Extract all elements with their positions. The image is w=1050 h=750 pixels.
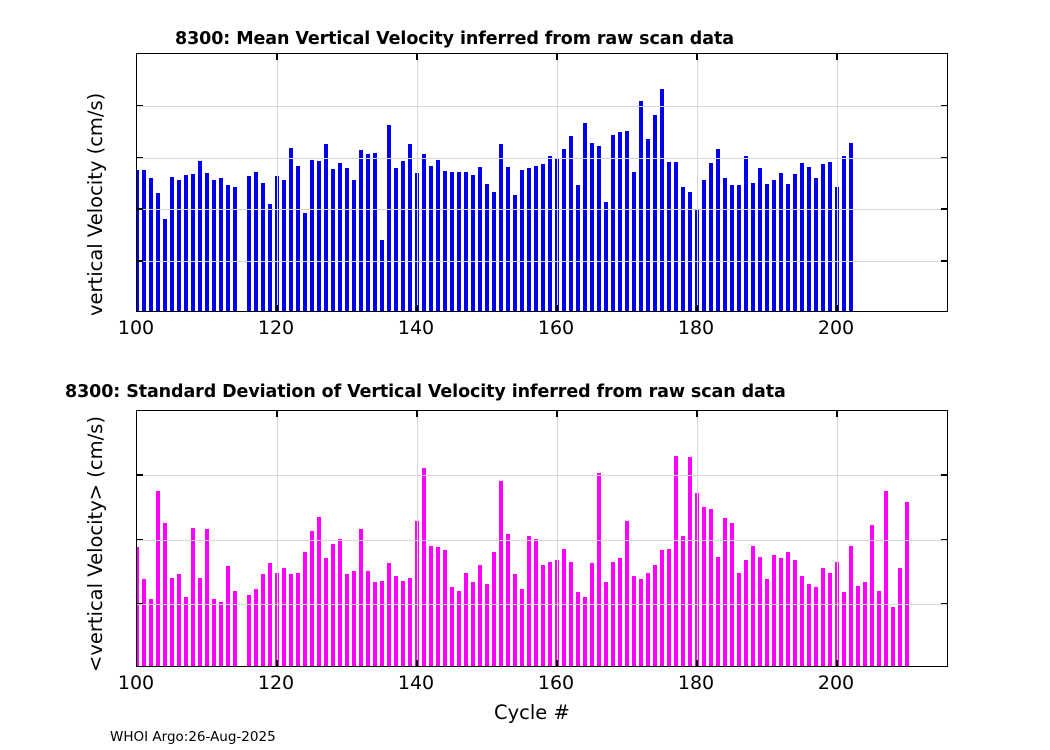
x-tick-label: 180 — [656, 672, 736, 694]
bar — [485, 184, 490, 311]
bar — [499, 481, 504, 666]
bar — [136, 170, 139, 311]
bar — [842, 156, 847, 311]
bar — [653, 115, 658, 311]
bar — [597, 146, 602, 311]
bar — [520, 589, 525, 666]
bar — [198, 578, 203, 666]
bar — [884, 491, 889, 666]
x-tick-mark — [276, 410, 278, 417]
bar — [492, 552, 497, 666]
bar — [744, 156, 749, 311]
bar — [436, 547, 441, 666]
bar — [604, 582, 609, 666]
bar — [247, 176, 252, 311]
bottom-panel-y-axis-label: <vertical Velocity> (cm/s) — [84, 416, 107, 672]
bar — [688, 457, 693, 666]
bar — [604, 202, 609, 311]
bar — [898, 568, 903, 666]
bar — [254, 589, 259, 666]
gridline-vertical — [277, 411, 278, 666]
bar — [212, 180, 217, 311]
y-tick-mark — [941, 603, 948, 605]
bar — [905, 502, 910, 666]
bar — [506, 167, 511, 311]
bar — [632, 576, 637, 666]
bar — [324, 144, 329, 311]
bar — [702, 507, 707, 666]
bar — [394, 576, 399, 666]
bar — [800, 163, 805, 311]
bar — [632, 172, 637, 311]
bar — [471, 582, 476, 666]
gridline-horizontal — [137, 475, 947, 476]
bar — [737, 573, 742, 666]
bar — [576, 185, 581, 311]
x-tick-label: 160 — [516, 317, 596, 339]
top-panel-y-axis-label: vertical Velocity (cm/s) — [84, 93, 107, 316]
gridline-vertical — [697, 54, 698, 311]
bar — [219, 602, 224, 666]
bar — [793, 174, 798, 311]
bar — [814, 587, 819, 666]
bar — [373, 153, 378, 312]
bar — [737, 185, 742, 311]
bar — [793, 560, 798, 666]
bar — [254, 172, 259, 311]
bar — [541, 565, 546, 666]
bar — [205, 529, 210, 666]
bar — [303, 552, 308, 666]
bar — [394, 168, 399, 311]
bar — [534, 166, 539, 311]
bar — [821, 568, 826, 666]
bar — [800, 576, 805, 666]
x-tick-mark — [836, 660, 838, 667]
y-tick-mark — [941, 208, 948, 210]
bar — [191, 174, 196, 311]
bar — [170, 177, 175, 311]
gridline-vertical — [557, 54, 558, 311]
bar — [758, 168, 763, 311]
bar — [772, 180, 777, 311]
bar — [366, 154, 371, 311]
y-tick-mark — [941, 539, 948, 541]
gridline-horizontal — [137, 158, 947, 159]
gridline-vertical — [417, 54, 418, 311]
y-tick-mark — [941, 260, 948, 262]
bar — [268, 204, 273, 311]
bar — [457, 172, 462, 311]
bar — [422, 468, 427, 666]
bar — [646, 139, 651, 311]
bar — [562, 549, 567, 666]
bar — [513, 574, 518, 666]
bar — [667, 549, 672, 666]
y-tick-mark — [136, 539, 143, 541]
bar — [170, 578, 175, 666]
bar — [212, 599, 217, 666]
bar — [478, 167, 483, 311]
bar — [828, 573, 833, 666]
bar — [646, 573, 651, 666]
bar — [723, 178, 728, 311]
bar — [513, 195, 518, 311]
bar — [464, 573, 469, 666]
bar — [198, 161, 203, 311]
gridline-vertical — [557, 411, 558, 666]
bar — [177, 574, 182, 666]
bar — [821, 164, 826, 311]
bar — [401, 161, 406, 311]
top-panel-plot-area — [136, 53, 948, 312]
x-tick-mark — [416, 53, 418, 60]
bar — [891, 607, 896, 666]
bar — [849, 546, 854, 666]
x-tick-mark — [836, 410, 838, 417]
x-tick-label: 100 — [96, 317, 176, 339]
bottom-panel-plot-area — [136, 410, 948, 667]
bar — [681, 187, 686, 311]
x-tick-label: 200 — [796, 317, 876, 339]
x-tick-mark — [416, 660, 418, 667]
gridline-vertical — [697, 411, 698, 666]
bar — [289, 574, 294, 666]
bar — [443, 171, 448, 311]
bar — [611, 135, 616, 311]
bar — [779, 173, 784, 311]
bar — [261, 183, 266, 311]
bar — [702, 180, 707, 311]
bar — [352, 571, 357, 666]
x-tick-mark — [556, 305, 558, 312]
x-tick-label: 100 — [96, 672, 176, 694]
bar — [268, 563, 273, 666]
bar — [660, 550, 665, 666]
bar — [583, 123, 588, 311]
bar — [583, 597, 588, 666]
bar — [541, 164, 546, 311]
bar — [219, 178, 224, 311]
y-tick-mark — [136, 260, 143, 262]
gridline-vertical — [837, 54, 838, 311]
bar — [443, 550, 448, 666]
bar — [765, 579, 770, 666]
bar — [366, 571, 371, 666]
bar — [660, 89, 665, 311]
bar — [422, 154, 427, 311]
bar — [534, 539, 539, 666]
bar — [828, 162, 833, 311]
bar — [310, 160, 315, 311]
bar — [730, 523, 735, 666]
bar — [849, 143, 854, 311]
bar — [625, 521, 630, 666]
bar — [457, 591, 462, 666]
bar — [282, 568, 287, 666]
y-tick-mark — [136, 157, 143, 159]
bar — [527, 536, 532, 666]
bar — [674, 456, 679, 666]
bar — [359, 150, 364, 311]
x-tick-mark — [556, 660, 558, 667]
bottom-panel-title: 8300: Standard Deviation of Vertical Vel… — [65, 382, 786, 402]
bar — [380, 240, 385, 311]
x-tick-mark — [696, 410, 698, 417]
y-tick-mark — [941, 105, 948, 107]
bar — [485, 584, 490, 666]
bar — [359, 529, 364, 666]
x-tick-mark — [276, 53, 278, 60]
bar — [814, 178, 819, 311]
x-tick-label: 140 — [376, 317, 456, 339]
y-tick-mark — [136, 474, 143, 476]
bar — [380, 581, 385, 666]
bar — [233, 591, 238, 666]
bar — [569, 562, 574, 666]
bar — [709, 163, 714, 311]
bar — [520, 170, 525, 311]
bar — [674, 162, 679, 311]
bar — [226, 185, 231, 311]
bar — [142, 170, 147, 311]
bar — [226, 566, 231, 666]
bar — [779, 558, 784, 666]
bar — [807, 167, 812, 311]
gridline-vertical — [417, 411, 418, 666]
gridline-horizontal — [137, 261, 947, 262]
bar — [870, 525, 875, 666]
bar — [772, 555, 777, 666]
bar — [765, 184, 770, 311]
bar — [373, 582, 378, 666]
bar — [786, 184, 791, 311]
top-panel-bar-series — [137, 54, 947, 311]
gridline-vertical — [837, 411, 838, 666]
bar — [450, 587, 455, 666]
bar — [331, 544, 336, 666]
bar — [499, 144, 504, 311]
bar — [345, 574, 350, 666]
bar — [184, 597, 189, 666]
bar — [716, 149, 721, 311]
y-tick-mark — [136, 208, 143, 210]
bar — [142, 579, 147, 666]
y-tick-mark — [136, 603, 143, 605]
gridline-vertical — [277, 54, 278, 311]
bar — [709, 509, 714, 666]
bar — [317, 161, 322, 311]
x-tick-mark — [836, 53, 838, 60]
bar — [667, 162, 672, 311]
bar — [387, 125, 392, 311]
bar — [786, 552, 791, 666]
bar — [548, 156, 553, 311]
x-tick-label: 160 — [516, 672, 596, 694]
bar — [149, 599, 154, 666]
bar — [156, 491, 161, 666]
gridline-horizontal — [137, 604, 947, 605]
bar — [807, 584, 812, 666]
x-tick-label: 140 — [376, 672, 456, 694]
bar — [163, 523, 168, 666]
bar — [618, 132, 623, 311]
bar — [401, 581, 406, 666]
figure-canvas: 8300: Mean Vertical Velocity inferred fr… — [0, 0, 1050, 750]
bar — [653, 565, 658, 666]
bar — [527, 168, 532, 311]
y-tick-mark — [136, 105, 143, 107]
bar — [681, 536, 686, 666]
gridline-horizontal — [137, 106, 947, 107]
bar — [506, 534, 511, 666]
bar — [751, 546, 756, 666]
bar — [345, 168, 350, 311]
bar — [261, 574, 266, 666]
bar — [639, 579, 644, 666]
bar — [338, 539, 343, 666]
x-tick-label: 120 — [236, 672, 316, 694]
bar — [450, 172, 455, 311]
x-tick-label: 120 — [236, 317, 316, 339]
bottom-panel-x-axis-label: Cycle # — [494, 701, 570, 724]
bar — [471, 175, 476, 311]
bar — [177, 180, 182, 311]
top-panel-title: 8300: Mean Vertical Velocity inferred fr… — [175, 29, 734, 49]
bar — [611, 562, 616, 666]
bar — [716, 557, 721, 666]
gridline-horizontal — [137, 540, 947, 541]
x-tick-mark — [696, 660, 698, 667]
bar — [464, 172, 469, 311]
bar — [863, 582, 868, 666]
bar — [310, 531, 315, 666]
bottom-panel-bar-series — [137, 411, 947, 666]
y-tick-mark — [941, 157, 948, 159]
x-tick-mark — [556, 53, 558, 60]
bar — [569, 136, 574, 311]
bar — [184, 175, 189, 311]
bar — [751, 183, 756, 311]
bar — [562, 149, 567, 311]
bar — [136, 547, 139, 666]
bar — [296, 166, 301, 311]
x-tick-label: 180 — [656, 317, 736, 339]
x-tick-mark — [416, 305, 418, 312]
bar — [478, 565, 483, 666]
bar — [233, 187, 238, 311]
bar — [296, 573, 301, 666]
bar — [877, 591, 882, 666]
bar — [156, 193, 161, 311]
bar — [408, 144, 413, 311]
bar — [163, 219, 168, 311]
bar — [331, 169, 336, 311]
bar — [429, 546, 434, 666]
bar — [205, 173, 210, 311]
x-tick-label: 200 — [796, 672, 876, 694]
bar — [387, 563, 392, 666]
bar — [429, 166, 434, 311]
bar — [289, 148, 294, 311]
bar — [590, 143, 595, 311]
figure-footer-credit: WHOI Argo:26-Aug-2025 — [110, 729, 276, 745]
gridline-horizontal — [137, 209, 947, 210]
x-tick-mark — [836, 305, 838, 312]
bar — [191, 528, 196, 666]
bar — [436, 160, 441, 311]
x-tick-mark — [276, 305, 278, 312]
bar — [590, 563, 595, 666]
bar — [408, 578, 413, 666]
bar — [324, 558, 329, 666]
bar — [744, 560, 749, 666]
bar — [282, 180, 287, 311]
bar — [856, 586, 861, 666]
x-tick-mark — [696, 53, 698, 60]
bar — [639, 101, 644, 311]
bar — [247, 595, 252, 666]
bar — [338, 163, 343, 311]
bar — [730, 185, 735, 311]
bar — [597, 473, 602, 666]
x-tick-mark — [556, 410, 558, 417]
bar — [758, 557, 763, 666]
bar — [149, 178, 154, 311]
x-tick-mark — [416, 410, 418, 417]
x-tick-mark — [276, 660, 278, 667]
bar — [352, 180, 357, 311]
bar — [618, 558, 623, 666]
x-tick-mark — [696, 305, 698, 312]
bar — [548, 562, 553, 666]
y-tick-mark — [941, 474, 948, 476]
